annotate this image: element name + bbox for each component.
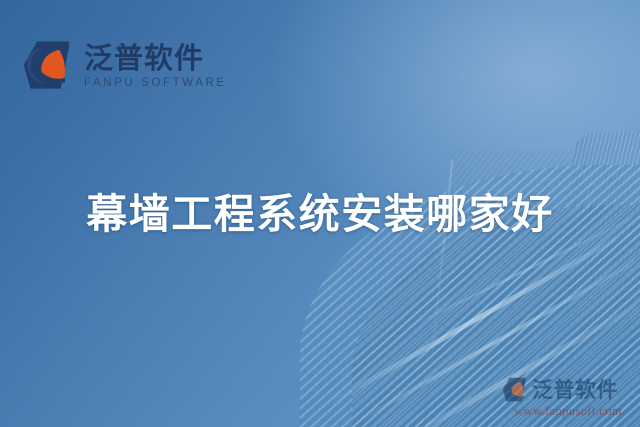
fanpu-logo-mark-icon — [22, 38, 76, 92]
brand-logo[interactable]: 泛普软件 FANPU SOFTWARE — [22, 38, 227, 92]
watermark-brand-name: 泛普软件 — [532, 374, 618, 404]
watermark-url: www.fanpusoft.com — [502, 404, 634, 419]
brand-name-en: FANPU SOFTWARE — [84, 77, 227, 89]
watermark: 泛普软件 www.fanpusoft.com — [502, 374, 634, 419]
watermark-brand-row: 泛普软件 — [502, 374, 634, 404]
fanpu-logo-mark-icon — [502, 376, 529, 403]
distant-tower-shape — [427, 150, 573, 360]
brand-text-block: 泛普软件 FANPU SOFTWARE — [84, 41, 227, 88]
promo-banner: 泛普软件 FANPU SOFTWARE 幕墙工程系统安装哪家好 泛普软件 www… — [0, 0, 640, 427]
brand-name-cn: 泛普软件 — [84, 43, 227, 73]
page-title: 幕墙工程系统安装哪家好 — [0, 192, 640, 238]
